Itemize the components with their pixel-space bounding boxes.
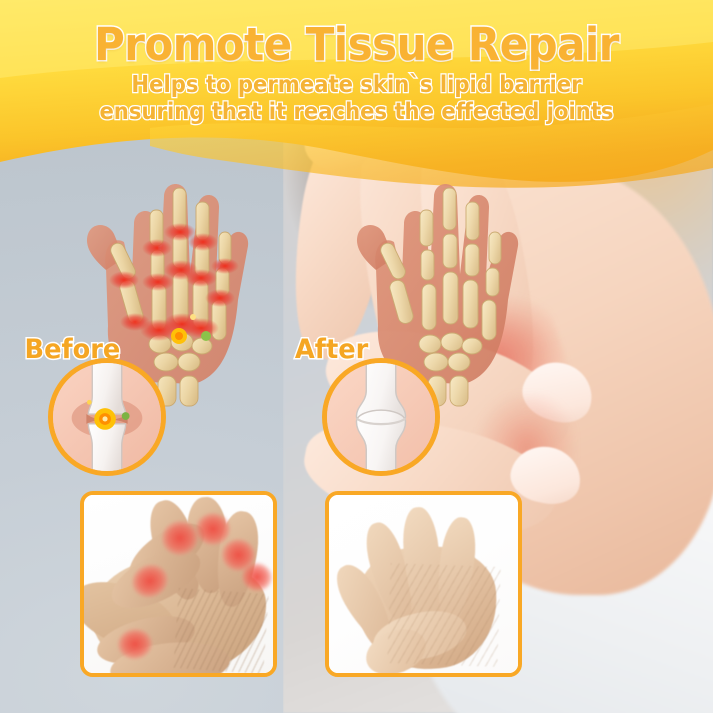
joint-detail-after: healthy joint: [322, 358, 440, 476]
label-after: After: [295, 334, 368, 365]
joint-after-svg: healthy joint: [327, 363, 435, 471]
promo-image: hands massaging an inflamed finger joint: [0, 0, 713, 713]
joint-before-svg: inflamed joint: [53, 363, 161, 471]
joint-detail-before: inflamed joint: [48, 358, 166, 476]
photo-after-healthy-hand: healthy hand with normal finger joints: [325, 491, 522, 677]
photo-before-arthritic-hands: arthritic hands with red swollen finger …: [80, 491, 277, 677]
